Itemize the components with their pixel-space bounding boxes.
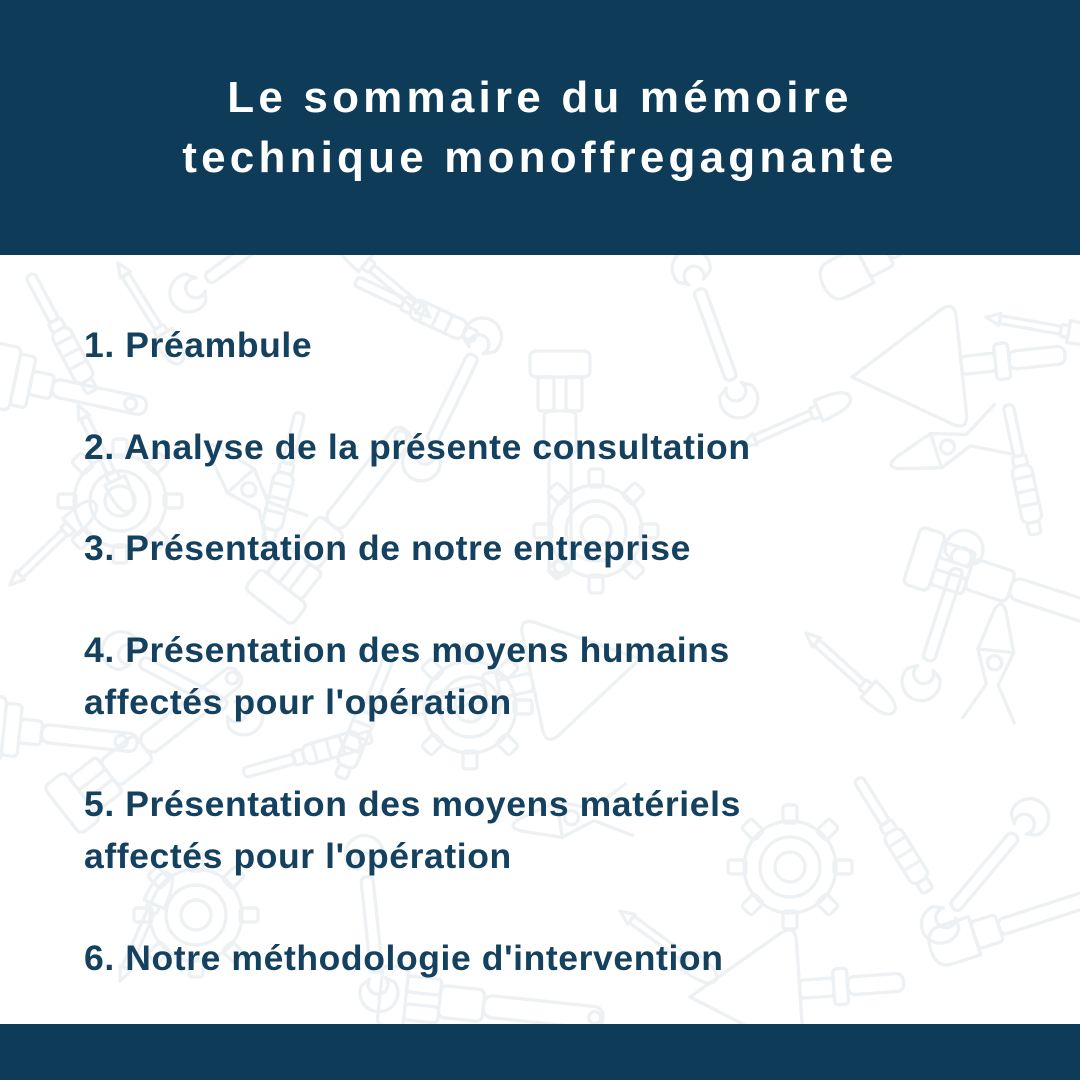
toc-item-2: 2. Analyse de la présente consultation (84, 421, 1014, 474)
toc-item-5: 5. Présentation des moyens matériels aff… (84, 778, 1014, 883)
toc-item-3: 3. Présentation de notre entreprise (84, 522, 1014, 575)
slide-canvas: Le sommaire du mémoire technique monoffr… (0, 0, 1080, 1080)
footer-band (0, 1024, 1080, 1080)
page-title-line-2: technique monoffregagnante (60, 128, 1020, 187)
header-band: Le sommaire du mémoire technique monoffr… (0, 0, 1080, 255)
toc-item-6: 6. Notre méthodologie d'intervention (84, 932, 1014, 985)
page-title-line-1: Le sommaire du mémoire (60, 68, 1020, 127)
table-of-contents: 1. Préambule 2. Analyse de la présente c… (84, 255, 1014, 1024)
page-title: Le sommaire du mémoire technique monoffr… (60, 68, 1020, 187)
toc-item-1: 1. Préambule (84, 319, 1014, 372)
toc-item-4: 4. Présentation des moyens humains affec… (84, 624, 1014, 729)
